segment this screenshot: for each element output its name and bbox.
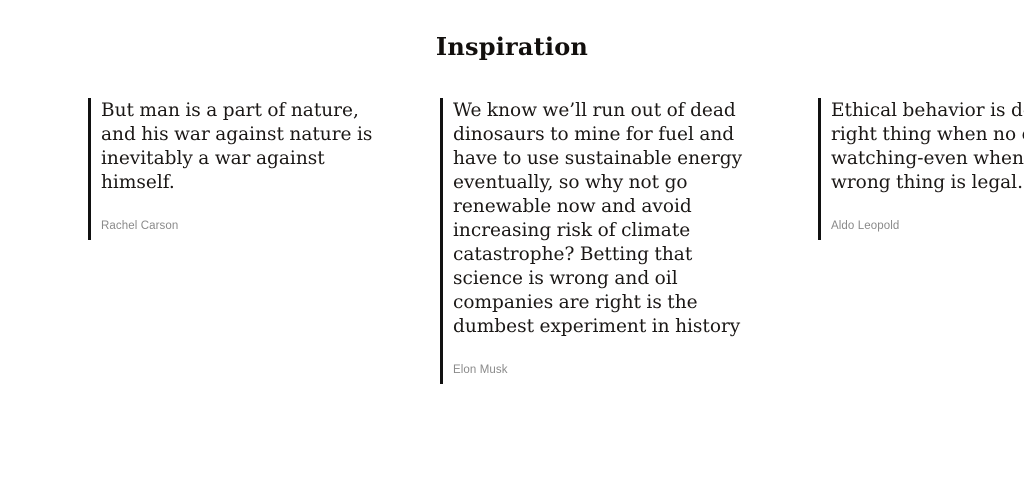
quote-author: Elon Musk	[453, 339, 766, 378]
quote-author: Aldo Leopold	[831, 195, 1024, 234]
quote-card: We know we’ll run out of dead dinosaurs …	[440, 98, 766, 384]
quote-text: But man is a part of nature, and his war…	[101, 98, 388, 195]
quotes-page: Inspiration But man is a part of nature,…	[0, 0, 1024, 483]
quote-text: Ethical behavior is doing the right thin…	[831, 98, 1024, 195]
page-title: Inspiration	[0, 0, 1024, 61]
quote-card: Ethical behavior is doing the right thin…	[818, 98, 1024, 240]
quote-card: But man is a part of nature, and his war…	[88, 98, 388, 240]
quotes-columns: But man is a part of nature, and his war…	[0, 82, 1024, 400]
quote-author: Rachel Carson	[101, 195, 388, 234]
quote-text: We know we’ll run out of dead dinosaurs …	[453, 98, 766, 339]
